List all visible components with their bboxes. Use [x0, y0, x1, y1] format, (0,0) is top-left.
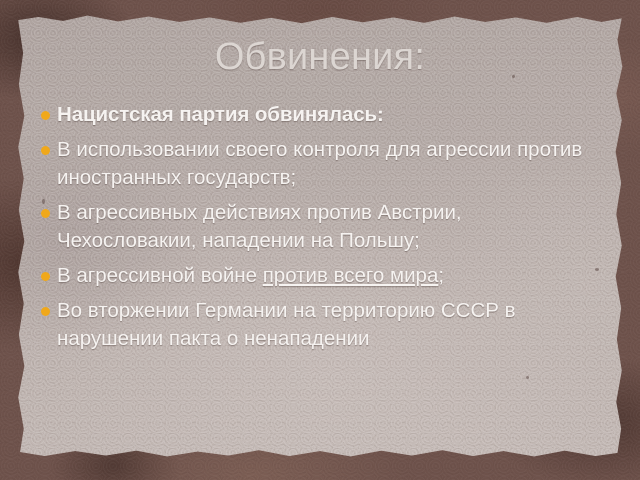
- slide-content: Обвинения: Нацистская партия обвинялась:…: [0, 0, 640, 480]
- presentation-slide: Обвинения: Нацистская партия обвинялась:…: [0, 0, 640, 480]
- bullet-item-2: В использовании своего контроля для агре…: [40, 136, 600, 192]
- slide-title: Обвинения:: [0, 38, 640, 78]
- bullet-text-before: В агрессивной войне: [57, 264, 263, 287]
- bullet-item-5: Во вторжении Германии на территорию СССР…: [40, 297, 600, 353]
- bullet-text: В агрессивных действиях против Австрии, …: [57, 201, 467, 252]
- bullet-item-3: В агрессивных действиях против Австрии, …: [40, 199, 600, 255]
- bullet-item-1: Нацистская партия обвинялась:: [40, 101, 600, 129]
- bullet-text: Во вторжении Германии на территорию СССР…: [57, 299, 527, 350]
- bullet-list: Нацистская партия обвинялась: В использо…: [40, 101, 600, 360]
- filled-circle-bullet-icon: [41, 111, 50, 120]
- bullet-text: В использовании своего контроля для агре…: [57, 138, 588, 189]
- filled-circle-bullet-icon: [41, 272, 50, 281]
- filled-circle-bullet-icon: [41, 307, 50, 316]
- bullet-text: Нацистская партия обвинялась:: [57, 103, 384, 126]
- filled-circle-bullet-icon: [41, 209, 50, 218]
- filled-circle-bullet-icon: [41, 146, 50, 155]
- bullet-item-4: В агрессивной войне против всего мира;: [40, 262, 600, 290]
- bullet-text-after: ;: [438, 264, 444, 287]
- bullet-text-underlined: против всего мира: [263, 264, 439, 287]
